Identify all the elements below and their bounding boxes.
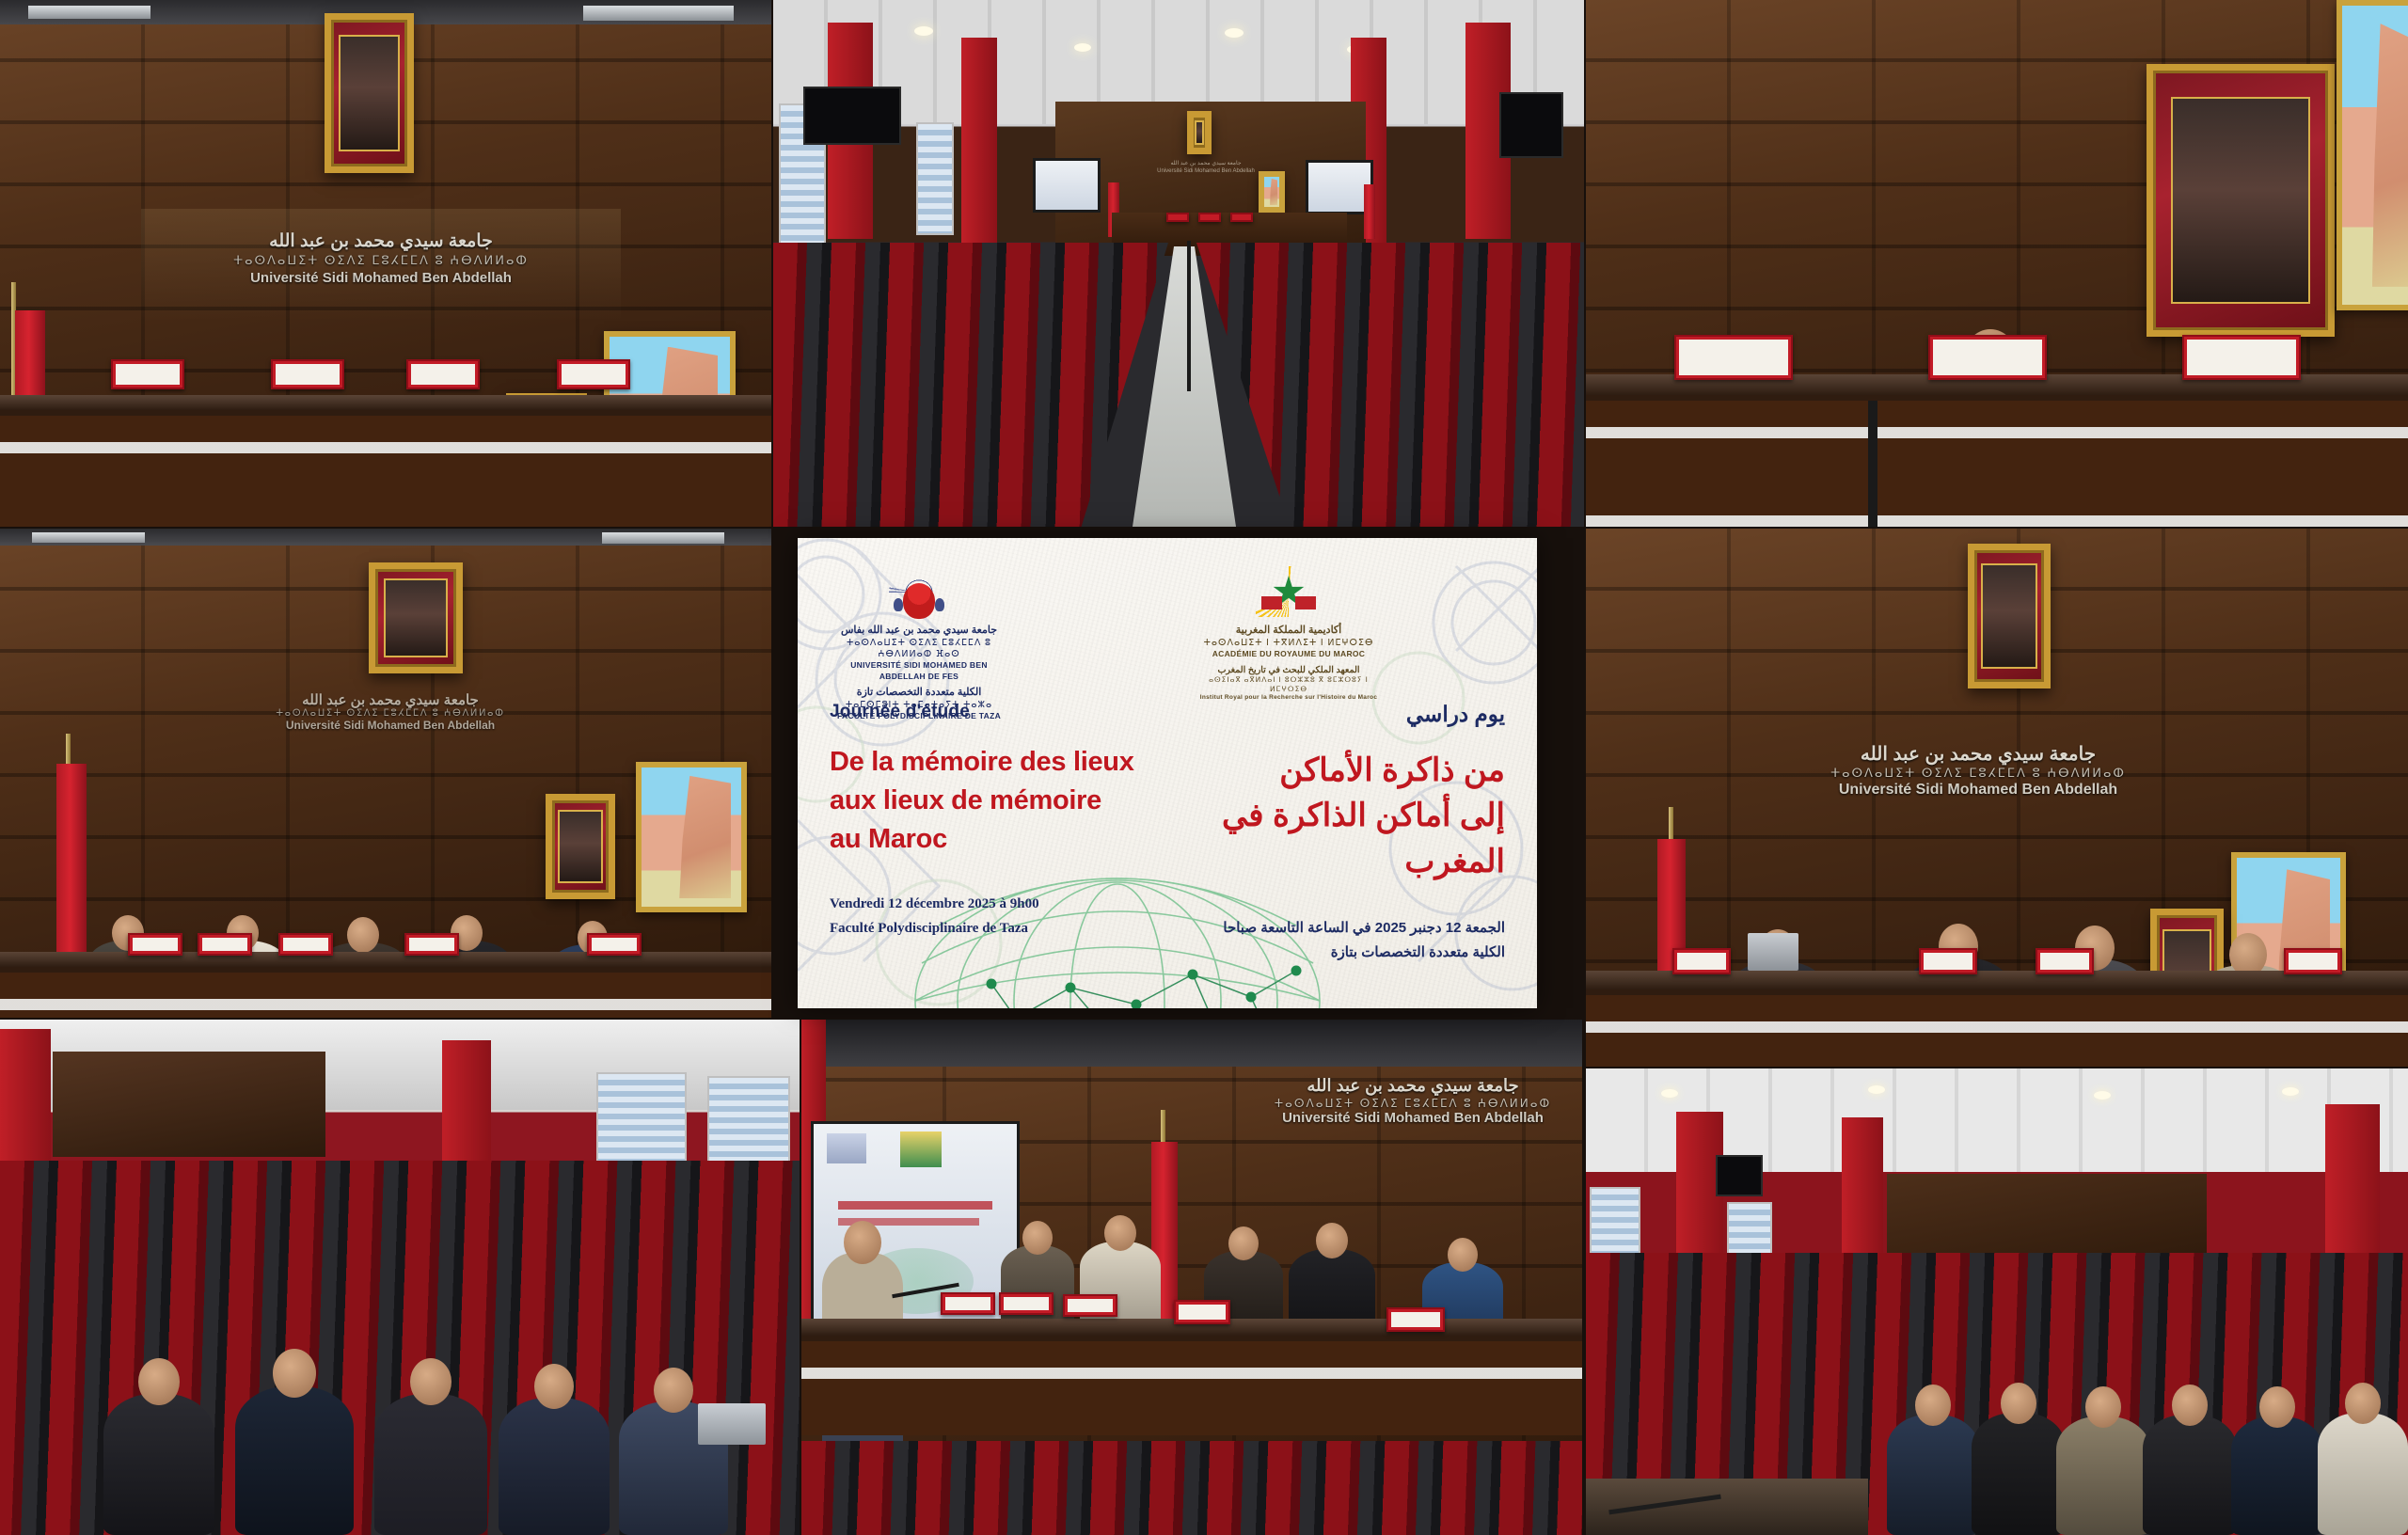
ceiling-light <box>2282 1087 2299 1096</box>
poster-venue-fr: Faculté Polydisciplinaire de Taza <box>830 916 1135 941</box>
poster-logo-academie: أكاديمية المملكة المغربية ⵜⴰⵙⴷⴰⵡⵉⵜ ⵏ ⵜⴳⵍ… <box>1199 562 1505 687</box>
irrhm-logo-tifinagh: ⴰⵙⵉⵏⴰⴳ ⴰⴳⵍⴷⴰⵏ ⵏ ⵓⵔⵣⵣⵓ ⴳ ⵓⵎⵣⵔⵓⵢ ⵏ ⵍⵎⵖⵔⵉⴱ <box>1199 675 1378 694</box>
photo-panel-with-questioner: جامعة سيدي محمد بن عبد الله ⵜⴰⵙⴷⴰⵡⵉⵜ ⵙⵉⴷ… <box>801 1020 1582 1535</box>
nameplate <box>198 933 252 956</box>
panel-dais <box>1586 989 2408 1067</box>
poster-meta-fr: Vendredi 12 décembre 2025 à 9h00 Faculté… <box>830 892 1135 942</box>
nameplate <box>271 359 344 389</box>
ceiling-light-bar-right <box>602 532 724 544</box>
attendee <box>1972 1413 2066 1535</box>
poster-meta-ar: الجمعة 12 دجنبر 2025 في الساعة التاسعة ص… <box>1199 916 1505 966</box>
wall-sign-arabic: جامعة سيدي محمد بن عبد الله <box>193 692 588 708</box>
photo-auditorium-aisle: جامعة سيدي محمد بن عبد الله Université S… <box>773 0 1584 527</box>
attendee <box>2231 1416 2323 1535</box>
wall-sign: جامعة سيدي محمد بن عبد الله ⵜⴰⵙⴷⴰⵡⵉⵜ ⵙⵉⴷ… <box>1757 743 2199 799</box>
stage-wall-sign: جامعة سيدي محمد بن عبد الله Université S… <box>1149 160 1262 182</box>
poster-venue-ar: الكلية متعددة التخصصات بتازة <box>1199 941 1505 965</box>
wall-sign-tifinagh: ⵜⴰⵙⴷⴰⵡⵉⵜ ⵙⵉⴷⵉ ⵎⵓⵃⵎⵎⴷ ⵓ ⵄⴱⴷⵍⵍⴰⵀ <box>141 254 621 268</box>
nameplate <box>941 1292 995 1315</box>
nameplate <box>1672 948 1731 974</box>
nameplate <box>128 933 182 956</box>
attendee <box>103 1394 214 1535</box>
nameplate <box>557 359 630 389</box>
ceiling-light <box>914 26 933 36</box>
attendee <box>2318 1413 2408 1535</box>
panel-dais <box>0 967 771 1018</box>
stage-wall-sign-arabic: جامعة سيدي محمد بن عبد الله <box>1149 160 1262 167</box>
wall-sign-arabic: جامعة سيدي محمد بن عبد الله <box>141 231 621 252</box>
projection-screen-left <box>1033 158 1101 213</box>
panel-dais <box>801 1336 1582 1435</box>
poster-date-ar: الجمعة 12 دجنبر 2025 في الساعة التاسعة ص… <box>1199 916 1505 941</box>
poster-title-fr: De la mémoire des lieux aux lieux de mém… <box>830 743 1135 860</box>
wall-sign-arabic: جامعة سيدي محمد بن عبد الله <box>1757 743 2199 766</box>
nameplate <box>404 933 459 956</box>
attendee <box>374 1394 487 1535</box>
panel-desk-top <box>0 395 771 410</box>
ceiling-light-bar <box>28 6 150 19</box>
nameplate <box>1198 213 1221 222</box>
poster-column-arabic: أكاديمية المملكة المغربية ⵜⴰⵙⴷⴰⵡⵉⵜ ⵏ ⵜⴳⵍ… <box>1167 538 1537 1008</box>
poster-date-fr: Vendredi 12 décembre 2025 à 9h00 <box>830 892 1135 916</box>
nameplate <box>1174 1300 1230 1324</box>
poster-title-fr-line2: aux lieux de mémoire au Maroc <box>830 782 1135 859</box>
poster-logo-usmba: جامعة سيدي محمد بن عبد الله بفاس ⵜⴰⵙⴷⴰⵡⵉ… <box>830 562 1135 687</box>
morocco-map-frame <box>1259 171 1285 213</box>
photo-panel-wide-shot: جامعة سيدي محمد بن عبد الله ⵜⴰⵙⴷⴰⵡⵉⵜ ⵙⵉⴷ… <box>0 0 771 527</box>
royal-portrait-frame <box>2147 64 2335 337</box>
usmba-crest-icon <box>882 562 956 621</box>
attendee <box>2143 1415 2237 1535</box>
nameplate <box>1386 1307 1445 1332</box>
event-poster: جامعة سيدي محمد بن عبد الله بفاس ⵜⴰⵙⴷⴰⵡⵉ… <box>798 538 1537 1008</box>
photo-audience-wide <box>1586 1068 2408 1535</box>
wall-sign-latin: Université Sidi Mohamed Ben Abdellah <box>141 270 621 286</box>
royal-portrait-frame <box>1968 544 2051 688</box>
nameplate <box>1674 335 1793 380</box>
morocco-map-frame <box>636 762 747 912</box>
poster-column-french: جامعة سيدي محمد بن عبد الله بفاس ⵜⴰⵙⴷⴰⵡⵉ… <box>798 538 1167 1008</box>
camera-tripod <box>1187 241 1191 391</box>
royal-portrait-frame <box>369 562 463 673</box>
wall-tv <box>1716 1155 1763 1196</box>
audience-back-rows <box>801 1441 1582 1535</box>
attendee <box>235 1386 354 1535</box>
attendee <box>499 1398 610 1535</box>
nameplate <box>111 359 184 389</box>
photo-panel-five-speakers: جامعة سيدي محمد بن عبد الله ⵜⴰⵙⴷⴰⵡⵉⵜ ⵙⵉⴷ… <box>0 529 771 1018</box>
nameplate <box>2036 948 2094 974</box>
morocco-map-frame <box>2337 0 2408 310</box>
irrhm-logo-arabic: المعهد الملكي للبحث في تاريخ المغرب <box>1199 665 1378 676</box>
red-column <box>1842 1117 1883 1268</box>
wall-sign: جامعة سيدي محمد بن عبد الله ⵜⴰⵙⴷⴰⵡⵉⵜ ⵙⵉⴷ… <box>141 231 621 286</box>
morocco-flag <box>1364 184 1375 239</box>
wall-sign-arabic: جامعة سيدي محمد بن عبد الله <box>1253 1076 1573 1097</box>
ceiling-light-bar-right <box>583 6 734 21</box>
nameplate <box>1919 948 1977 974</box>
academie-logo-arabic: أكاديمية المملكة المغربية <box>1199 625 1378 638</box>
ceiling-light <box>1868 1085 1885 1094</box>
royal-portrait-frame <box>325 13 414 173</box>
photo-panel-three-speakers <box>1586 0 2408 527</box>
poster-title-ar-line1: من ذاكرة الأماكن <box>1199 748 1505 793</box>
academie-logo-latin: ACADÉMIE DU ROYAUME DU MAROC <box>1199 649 1378 659</box>
nameplate <box>1230 213 1253 222</box>
nameplate <box>999 1292 1053 1315</box>
window-blind <box>916 122 954 235</box>
poster-title-fr-line1: De la mémoire des lieux <box>830 743 1135 782</box>
ceiling-light <box>1661 1089 1678 1098</box>
back-wall <box>53 1052 325 1157</box>
ceiling-light <box>1225 28 1244 38</box>
screen-title-line <box>838 1201 992 1210</box>
nameplate <box>1166 213 1189 222</box>
wall-tv <box>1499 92 1563 158</box>
panel-desk-top <box>0 952 771 967</box>
laptop <box>698 1403 766 1445</box>
panel-dais <box>1586 395 2408 527</box>
nameplate <box>2182 335 2301 380</box>
wall-sign: جامعة سيدي محمد بن عبد الله ⵜⴰⵙⴷⴰⵡⵉⵜ ⵙⵉⴷ… <box>1253 1076 1573 1127</box>
ceiling-light-bar <box>32 532 145 543</box>
ceiling-light <box>1074 43 1091 52</box>
nameplate <box>406 359 480 389</box>
academie-royaume-emblem-icon <box>1252 562 1325 621</box>
photo-panel-four-speakers: جامعة سيدي محمد بن عبد الله ⵜⴰⵙⴷⴰⵡⵉⵜ ⵙⵉⴷ… <box>1586 529 2408 1067</box>
wall-sign-tifinagh: ⵜⴰⵙⴷⴰⵡⵉⵜ ⵙⵉⴷⵉ ⵎⵓⵃⵎⵎⴷ ⵓ ⵄⴱⴷⵍⵍⴰⵀ <box>1253 1097 1573 1110</box>
attendee <box>2056 1416 2150 1535</box>
nameplate <box>1063 1294 1117 1317</box>
poster-title-ar-line2: إلى أماكن الذاكرة في المغرب <box>1199 793 1505 884</box>
usmba-logo-latin: UNIVERSITÉ SIDI MOHAMED BEN ABDELLAH DE … <box>830 660 1008 682</box>
wall-sign-tifinagh: ⵜⴰⵙⴷⴰⵡⵉⵜ ⵙⵉⴷⵉ ⵎⵓⵃⵎⵎⴷ ⵓ ⵄⴱⴷⵍⵍⴰⵀ <box>1757 766 2199 781</box>
royal-portrait-small <box>546 794 615 899</box>
nameplate <box>587 933 642 956</box>
wall-sign: جامعة سيدي محمد بن عبد الله ⵜⴰⵙⴷⴰⵡⵉⵜ ⵙⵉⴷ… <box>193 692 588 733</box>
usmba-logo-tifinagh: ⵜⴰⵙⴷⴰⵡⵉⵜ ⵙⵉⴷⵉ ⵎⵓⵃⵎⵎⴷ ⵓ ⵄⴱⴷⵍⵍⴰⵀ ⴼⴰⵙ <box>830 638 1008 661</box>
nameplate <box>2284 948 2342 974</box>
wall-tv <box>803 87 901 145</box>
fpt-logo-arabic: الكلية متعددة التخصصات تازة <box>830 687 1008 700</box>
wall-sign-latin: Université Sidi Mohamed Ben Abdellah <box>193 720 588 733</box>
photo-audience-front-rows <box>0 1020 800 1535</box>
irrhm-logo-latin: Institut Royal pour la Recherche sur l'H… <box>1199 694 1378 703</box>
poster-kicker-ar: يوم دراسي <box>1199 702 1505 727</box>
panel-dais <box>0 410 771 527</box>
screen-logo-usmba <box>827 1133 866 1163</box>
photo-collage: جامعة سيدي محمد بن عبد الله ⵜⴰⵙⴷⴰⵡⵉⵜ ⵙⵉⴷ… <box>0 0 2408 1535</box>
laptop <box>1748 933 1798 971</box>
camera-tripod <box>1868 401 1877 527</box>
usmba-logo-arabic: جامعة سيدي محمد بن عبد الله بفاس <box>830 625 1008 638</box>
nameplate <box>1928 335 2047 380</box>
wall-sign-latin: Université Sidi Mohamed Ben Abdellah <box>1757 781 2199 799</box>
red-column <box>961 38 997 245</box>
nameplate <box>278 933 333 956</box>
ceiling-light <box>2094 1091 2111 1100</box>
poster-title-ar: من ذاكرة الأماكن إلى أماكن الذاكرة في ال… <box>1199 748 1505 884</box>
attendee <box>1887 1415 1979 1535</box>
stage-wall-sign-latin: Université Sidi Mohamed Ben Abdellah <box>1149 167 1262 175</box>
academie-logo-tifinagh: ⵜⴰⵙⴷⴰⵡⵉⵜ ⵏ ⵜⴳⵍⴷⵉⵜ ⵏ ⵍⵎⵖⵔⵉⴱ <box>1199 638 1378 649</box>
royal-portrait-frame <box>1187 111 1212 154</box>
screen-logo-academie <box>900 1131 942 1167</box>
wall-sign-latin: Université Sidi Mohamed Ben Abdellah <box>1253 1110 1573 1127</box>
